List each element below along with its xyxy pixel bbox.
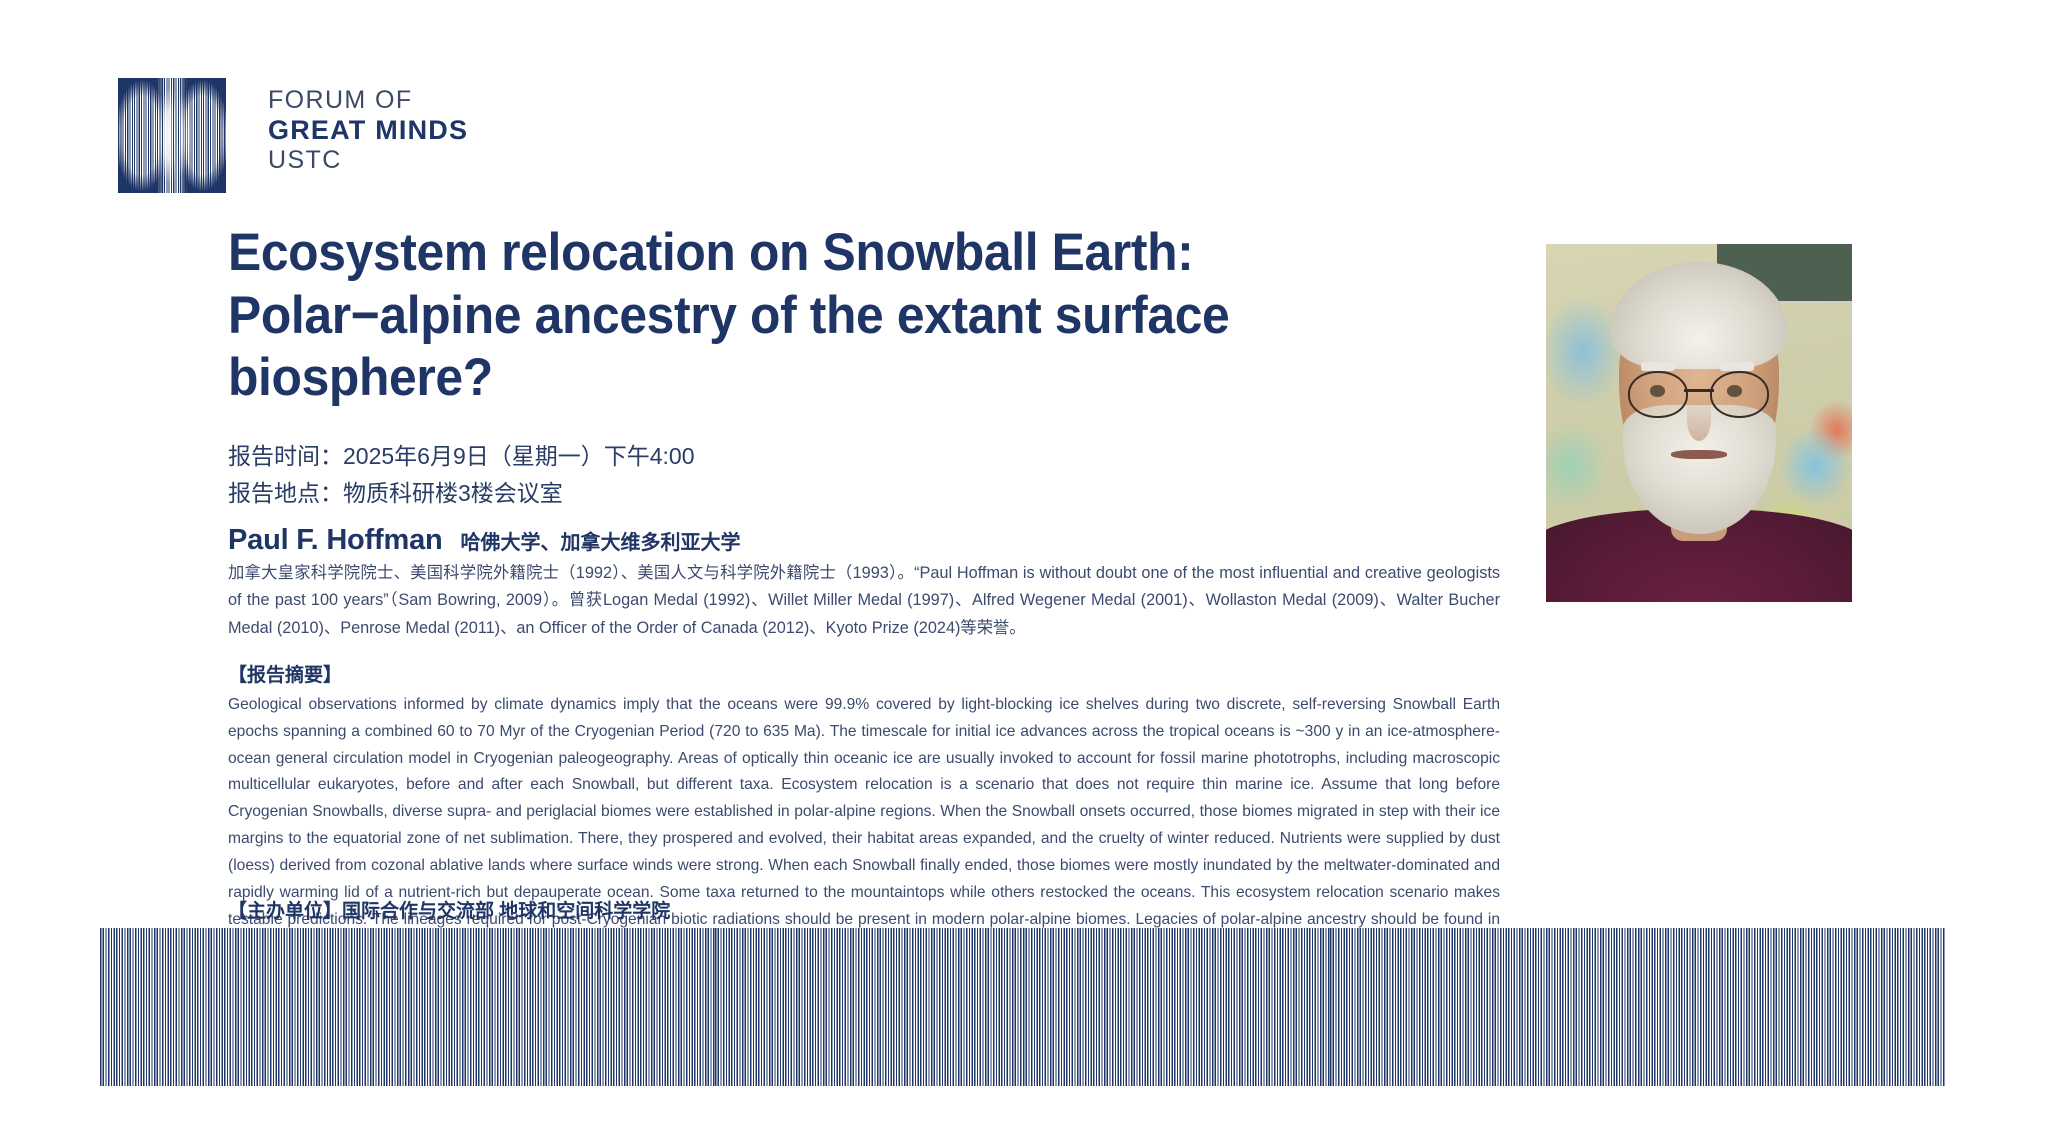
band-unit-diamond-stripes — [408, 928, 716, 1086]
band-unit-diamond-stripes — [1023, 928, 1331, 1086]
band-unit — [1330, 928, 1638, 1086]
portrait-mouth — [1671, 450, 1726, 459]
forum-of-great-minds-mark-icon — [118, 78, 226, 193]
logo-line-ustc: USTC — [268, 146, 468, 175]
speaker-portrait-photo — [1546, 244, 1852, 602]
event-time: 报告时间：2025年6月9日（星期一）下午4:00 — [228, 438, 695, 475]
portrait-glasses-icon — [1626, 371, 1773, 414]
band-unit-diamond-stripes — [1330, 928, 1638, 1086]
seminar-poster: FORUM OF GREAT MINDS USTC Ecosystem relo… — [0, 0, 2048, 1134]
band-unit — [1638, 928, 1946, 1086]
band-unit — [100, 928, 408, 1086]
speaker-bio: 加拿大皇家科学院院士、美国科学院外籍院士（1992）、美国人文与科学院外籍院士（… — [228, 560, 1500, 642]
band-unit — [1023, 928, 1331, 1086]
band-unit — [715, 928, 1023, 1086]
event-meta: 报告时间：2025年6月9日（星期一）下午4:00 报告地点：物质科研楼3楼会议… — [228, 438, 695, 513]
portrait-eyebrow-right — [1720, 362, 1754, 371]
forum-logo: FORUM OF GREAT MINDS USTC — [118, 78, 468, 193]
speaker-name: Paul F. Hoffman — [228, 524, 443, 557]
glasses-bridge — [1684, 389, 1713, 391]
portrait-eyebrow-left — [1641, 362, 1675, 371]
band-unit-diamond-stripes — [1638, 928, 1946, 1086]
band-unit-diamond-stripes — [715, 928, 1023, 1086]
abstract-heading: 【报告摘要】 — [228, 660, 342, 687]
logo-line-forum-of: FORUM OF — [268, 86, 468, 115]
speaker-header: Paul F. Hoffman 哈佛大学、加拿大维多利亚大学 — [228, 524, 741, 557]
glasses-lens-left — [1628, 371, 1688, 418]
forum-logo-text: FORUM OF GREAT MINDS USTC — [268, 86, 468, 175]
decorative-wave-band — [100, 928, 1945, 1086]
speaker-affiliation: 哈佛大学、加拿大维多利亚大学 — [461, 526, 741, 555]
event-venue: 报告地点：物质科研楼3楼会议室 — [228, 475, 695, 512]
band-unit-diamond-stripes — [100, 928, 408, 1086]
band-unit — [408, 928, 716, 1086]
glasses-lens-right — [1710, 371, 1770, 418]
organizer-line: 【主办单位】国际合作与交流部 地球和空间科学学院 — [228, 896, 670, 923]
page-title: Ecosystem relocation on Snowball Earth: … — [228, 222, 1441, 410]
logo-stripe-flare — [118, 78, 226, 193]
logo-line-great-minds: GREAT MINDS — [268, 115, 468, 146]
